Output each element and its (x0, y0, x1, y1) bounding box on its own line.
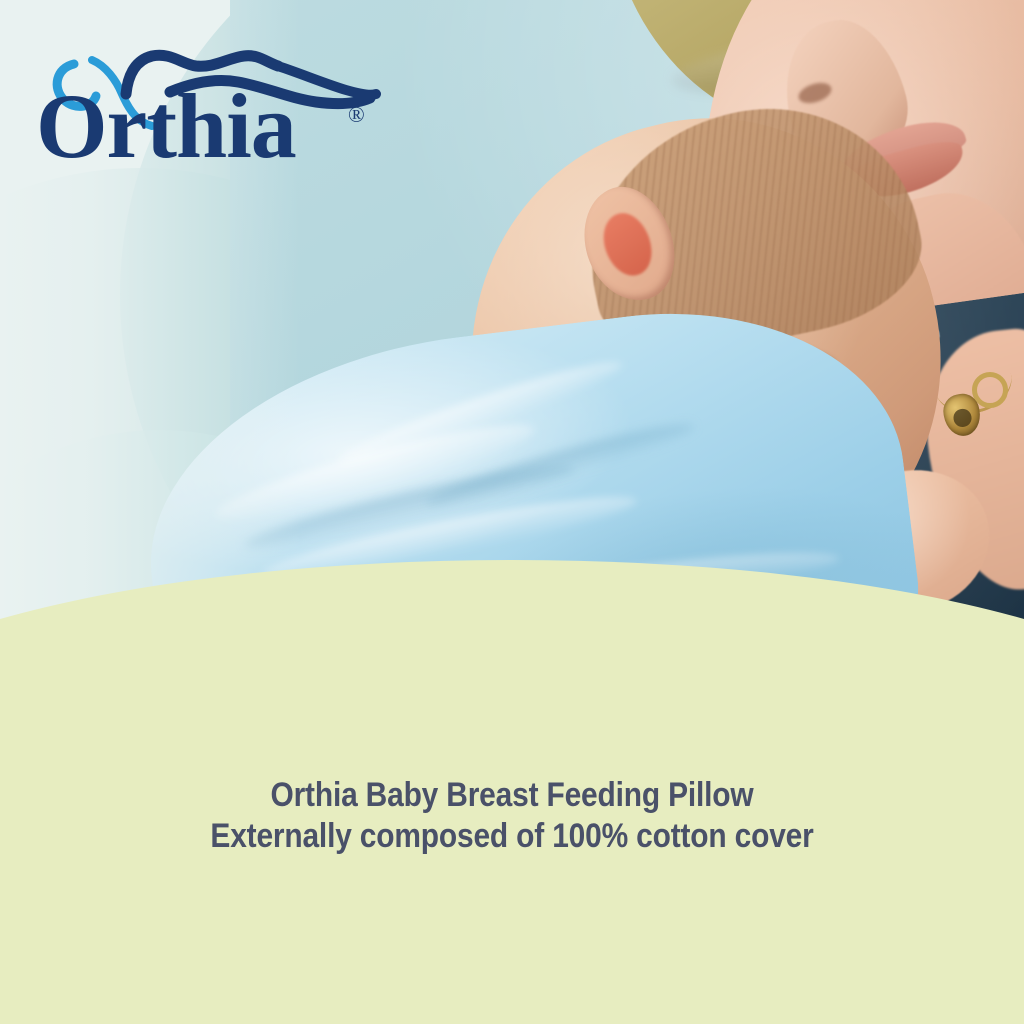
caption-line-1: Orthia Baby Breast Feeding Pillow (61, 775, 962, 816)
product-caption: Orthia Baby Breast Feeding Pillow Extern… (61, 775, 962, 858)
product-banner: Orthia Baby Breast Feeding Pillow Extern… (0, 0, 1024, 1024)
brand-wordmark: Orthia (36, 80, 296, 172)
brand-logo: Orthia ® (30, 22, 390, 192)
caption-line-2: Externally composed of 100% cotton cover (61, 816, 962, 857)
trademark-symbol: ® (348, 102, 365, 128)
